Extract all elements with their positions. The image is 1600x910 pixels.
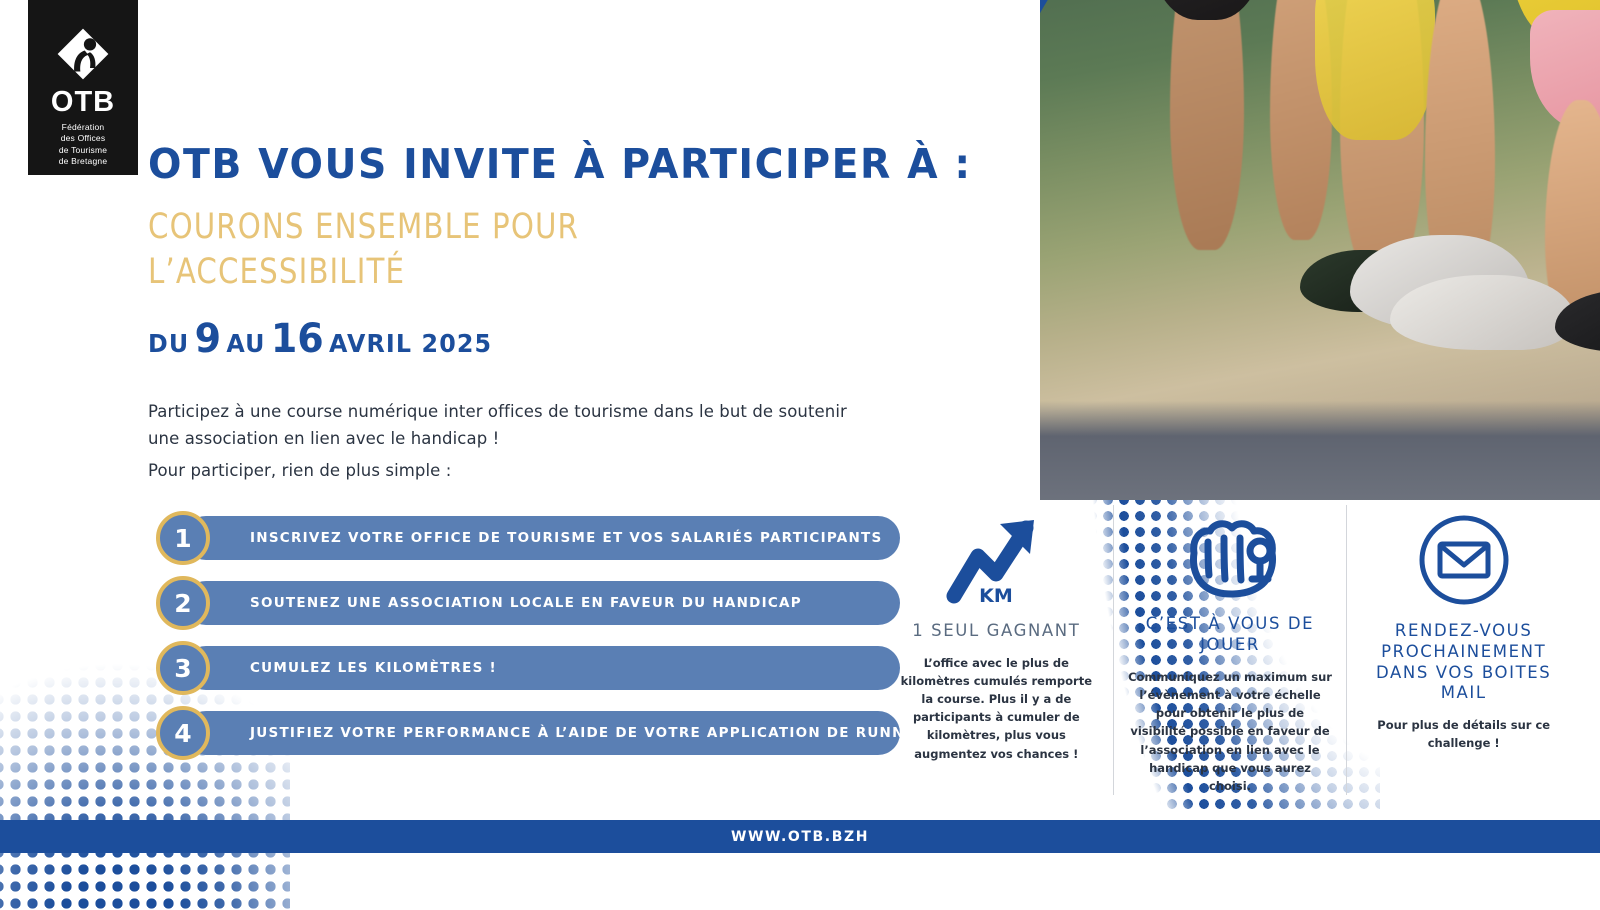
event-dates: DU 9 AU 16 AVRIL 2025 (148, 316, 492, 362)
step-label: INSCRIVEZ VOTRE OFFICE DE TOURISME ET VO… (184, 530, 882, 546)
subtitle-line-1: COURONS ENSEMBLE POUR (148, 207, 579, 247)
intro-paragraph-2: Pour participer, rien de plus simple : (148, 457, 853, 484)
step-item[interactable]: SOUTENEZ UNE ASSOCIATION LOCALE EN FAVEU… (156, 581, 856, 625)
km-icon-label: KM (980, 585, 1014, 607)
feature-title: C’EST À VOUS DE JOUER (1128, 614, 1333, 656)
step-number-badge: 4 (156, 706, 210, 760)
step-bar: SOUTENEZ UNE ASSOCIATION LOCALE EN FAVEU… (184, 581, 900, 625)
step-item[interactable]: INSCRIVEZ VOTRE OFFICE DE TOURISME ET VO… (156, 516, 856, 560)
footer-bar: WWW.OTB.BZH (0, 820, 1600, 853)
feature-winner: KM 1 SEUL GAGNANT L’office avec le plus … (880, 505, 1113, 795)
subtitle-line-2: L’ACCESSIBILITÉ (148, 252, 405, 292)
otb-logo: OTB Fédérationdes Officesde Tourismede B… (28, 0, 138, 175)
step-item[interactable]: JUSTIFIEZ VOTRE PERFORMANCE À L’AIDE DE … (156, 711, 856, 755)
feature-icon-wrap (1414, 505, 1514, 615)
step-bar: CUMULEZ LES KILOMÈTRES ! (184, 646, 900, 690)
envelope-circle-icon (1414, 510, 1514, 610)
footer-website-url[interactable]: WWW.OTB.BZH (731, 829, 869, 845)
step-number-badge: 1 (156, 511, 210, 565)
feature-title: 1 SEUL GAGNANT (912, 621, 1080, 642)
step-label: JUSTIFIEZ VOTRE PERFORMANCE À L’AIDE DE … (184, 725, 936, 741)
page-subtitle: COURONS ENSEMBLE POUR L’ACCESSIBILITÉ (148, 205, 579, 295)
logo-wordmark: OTB (51, 88, 115, 117)
step-label: SOUTENEZ UNE ASSOCIATION LOCALE EN FAVEU… (184, 595, 802, 611)
rising-arrow-km-icon: KM (944, 512, 1048, 608)
otb-diamond-figure-icon (55, 26, 111, 82)
steps-list: INSCRIVEZ VOTRE OFFICE DE TOURISME ET VO… (156, 516, 856, 776)
page-title: OTB VOUS INVITE À PARTICIPER À : (148, 140, 972, 188)
step-bar: INSCRIVEZ VOTRE OFFICE DE TOURISME ET VO… (184, 516, 900, 560)
date-day-end: 16 (271, 316, 324, 362)
step-number-badge: 3 (156, 641, 210, 695)
feature-mail: RENDEZ-VOUS PROCHAINEMENT DANS VOS BOITE… (1346, 505, 1580, 795)
date-prefix: DU (148, 329, 189, 358)
feature-description: Communiquez un maximum sur l’évènement à… (1128, 668, 1333, 795)
feature-title: RENDEZ-VOUS PROCHAINEMENT DANS VOS BOITE… (1361, 621, 1566, 704)
step-label: CUMULEZ LES KILOMÈTRES ! (184, 660, 497, 676)
step-number-badge: 2 (156, 576, 210, 630)
feature-icon-wrap: KM (944, 505, 1048, 615)
feature-description: L’office avec le plus de kilomètres cumu… (894, 654, 1099, 763)
date-middle: AU (226, 329, 265, 358)
feature-columns: KM 1 SEUL GAGNANT L’office avec le plus … (880, 505, 1580, 795)
intro-paragraph-1: Participez à une course numérique inter … (148, 398, 853, 452)
feature-description: Pour plus de détails sur ce challenge ! (1361, 716, 1566, 752)
hero-photo (1040, 0, 1600, 500)
step-bar: JUSTIFIEZ VOTRE PERFORMANCE À L’AIDE DE … (184, 711, 900, 755)
date-day-start: 9 (195, 316, 221, 362)
step-item[interactable]: CUMULEZ LES KILOMÈTRES ! 3 (156, 646, 856, 690)
photo-arc-border (1040, 0, 1600, 500)
date-month-year: AVRIL 2025 (329, 329, 492, 358)
logo-subtitle: Fédérationdes Officesde Tourismede Breta… (59, 122, 108, 168)
fist-bump-icon (1174, 509, 1286, 605)
feature-your-turn: C’EST À VOUS DE JOUER Communiquez un max… (1113, 505, 1347, 795)
feature-icon-wrap (1174, 505, 1286, 608)
